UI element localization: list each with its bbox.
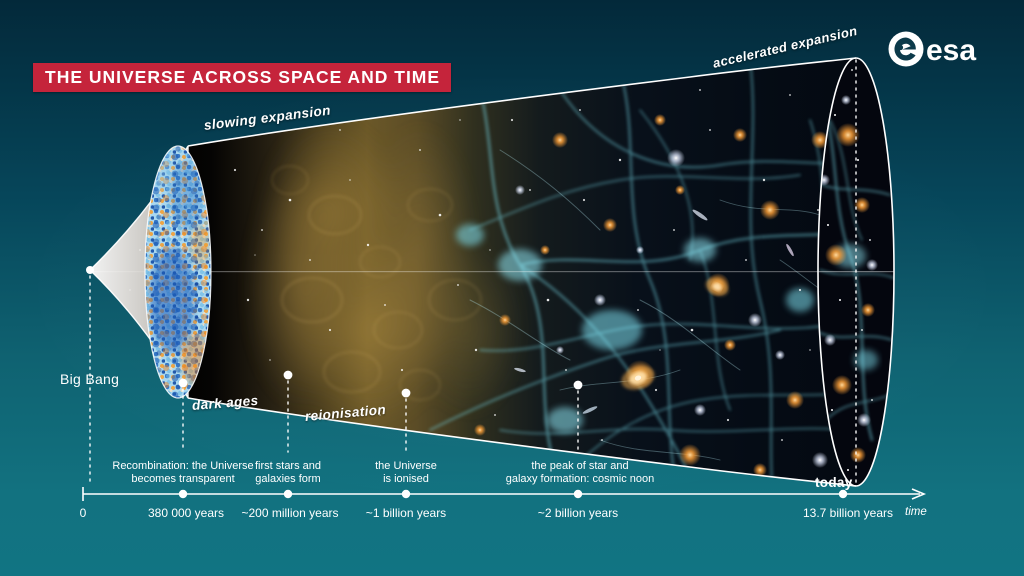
timeline-year-200m: ~200 million years — [241, 506, 338, 520]
esa-logo-text: esa — [926, 34, 976, 67]
timeline-year-1b: ~1 billion years — [366, 506, 446, 520]
page-title-text: THE UNIVERSE ACROSS SPACE AND TIME — [45, 69, 440, 87]
page-title: THE UNIVERSE ACROSS SPACE AND TIME — [33, 63, 451, 92]
timeline-year-137b: 13.7 billion years — [803, 506, 893, 520]
timeline-year-0: 0 — [80, 506, 87, 520]
infographic-canvas: THE UNIVERSE ACROSS SPACE AND TIME esa s… — [0, 0, 1024, 576]
timeline-year-2b: ~2 billion years — [538, 506, 618, 520]
timeline-year-380k: 380 000 years — [148, 506, 224, 520]
esa-logo: esa — [886, 27, 1002, 71]
timeline-axis-label: time — [905, 506, 927, 518]
